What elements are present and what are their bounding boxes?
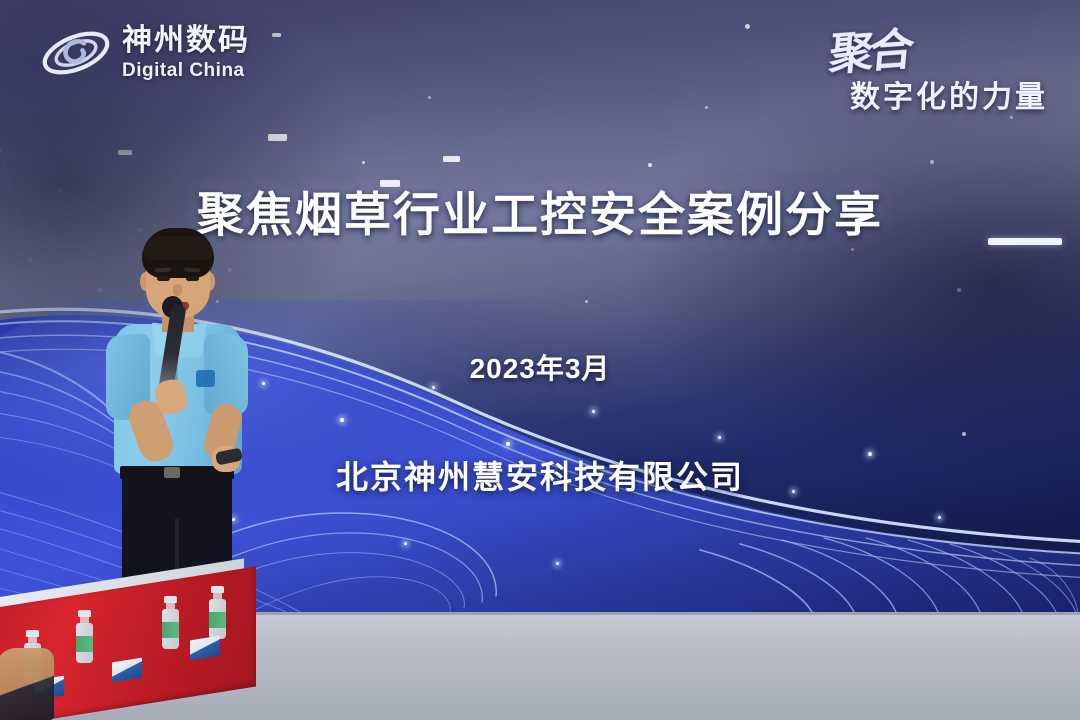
presenter-shirt-badge: [196, 370, 215, 387]
presenter-eye-right: [186, 276, 199, 281]
photo-stage: 神州数码 Digital China 聚合 数字化的力量 聚焦烟草行业工控安全案…: [0, 0, 1080, 720]
water-bottle: [76, 610, 93, 663]
water-bottle: [162, 596, 179, 649]
bottle-cap: [78, 610, 91, 617]
spiral-galaxy-icon: [40, 22, 112, 84]
bottle-body: [76, 623, 93, 663]
decorative-dash: [988, 238, 1062, 245]
bottle-label: [76, 636, 93, 652]
bottle-cap: [211, 586, 224, 593]
presenter-hair-fringe: [144, 236, 212, 260]
presenter-eye-left: [157, 276, 170, 281]
bottle-cap: [26, 630, 39, 637]
bottle-cap: [164, 596, 177, 603]
event-tagline: 数字化的力量: [850, 72, 1048, 116]
bottle-body: [209, 599, 226, 639]
bottle-body: [162, 609, 179, 649]
presenter-nose: [173, 284, 182, 296]
water-bottle: [209, 586, 226, 639]
bottle-label: [162, 622, 179, 638]
bottle-label: [209, 612, 226, 628]
brand-logo: 神州数码 Digital China: [40, 22, 250, 84]
seated-attendee: [0, 648, 54, 720]
presenter: [98, 228, 250, 612]
brand-name-cn: 神州数码: [122, 26, 250, 56]
presenter-belt-buckle: [164, 467, 180, 478]
event-logo: 聚合 数字化的力量: [804, 16, 1054, 116]
brand-name-en: Digital China: [122, 61, 250, 80]
